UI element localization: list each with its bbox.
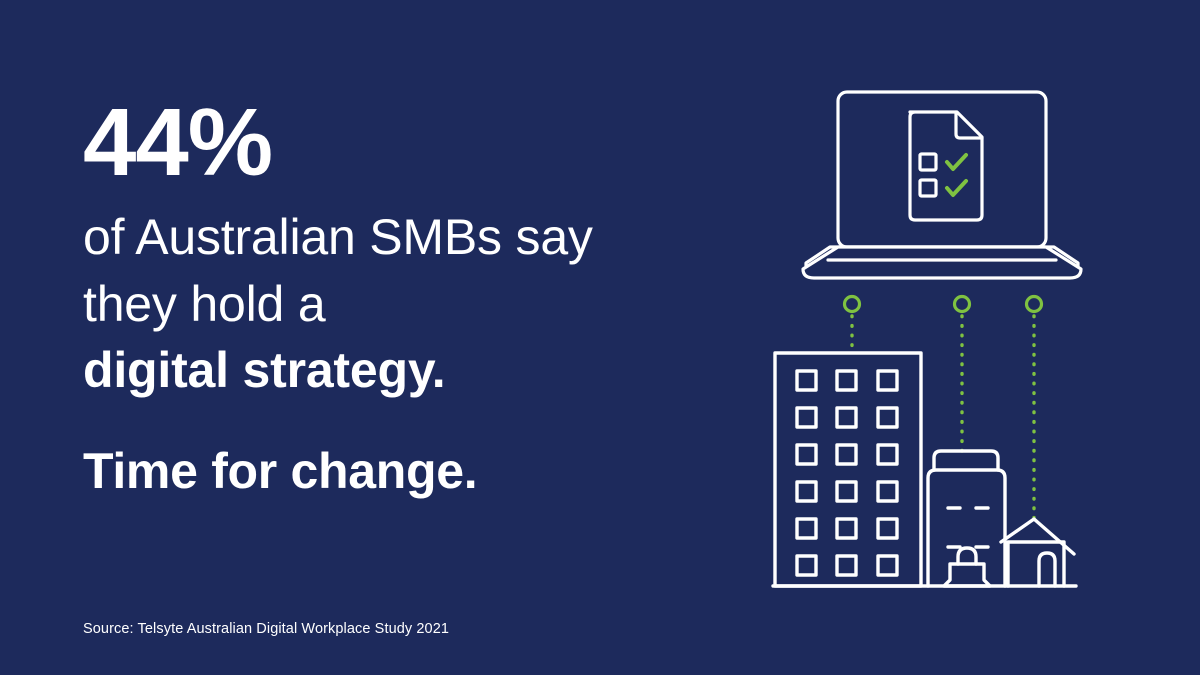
tower-window <box>878 445 897 464</box>
infographic-canvas: 44% of Australian SMBs say they hold a d… <box>0 0 1200 675</box>
copy-block: 44% of Australian SMBs say they hold a d… <box>83 96 683 499</box>
headline: of Australian SMBs say they hold a digit… <box>83 204 683 404</box>
tower-window <box>878 408 897 427</box>
headline-line-3: digital strategy. <box>83 337 683 404</box>
tower-window <box>878 519 897 538</box>
tower-window <box>797 482 816 501</box>
checkbox-2 <box>920 180 936 196</box>
mid-rise-roof-cap <box>934 451 998 470</box>
checkmark-icon-1 <box>947 155 966 169</box>
office-tower-icon <box>775 353 921 586</box>
tower-window <box>797 519 816 538</box>
connector-node-3 <box>1027 297 1042 312</box>
tower-window <box>837 408 856 427</box>
padlock-shackle-icon <box>958 548 976 564</box>
tower-window <box>797 408 816 427</box>
tower-window <box>878 482 897 501</box>
checkbox-1 <box>920 154 936 170</box>
document-checkmarks <box>947 155 966 195</box>
padlock-body-icon <box>944 564 990 586</box>
headline-line-1: of Australian SMBs <box>83 209 502 265</box>
tower-window <box>837 482 856 501</box>
tower-window <box>878 371 897 390</box>
illustration <box>752 70 1112 600</box>
connector-node-2 <box>955 297 970 312</box>
tower-window <box>797 445 816 464</box>
laptop-icon <box>803 92 1081 278</box>
tower-window <box>797 556 816 575</box>
tower-window <box>797 371 816 390</box>
tower-window <box>837 519 856 538</box>
checkmark-icon-2 <box>947 181 966 195</box>
call-to-action-text: Time for change. <box>83 444 683 499</box>
stat-value: 44% <box>83 96 683 190</box>
tower-window <box>837 445 856 464</box>
dotted-connector-lines <box>845 297 1042 519</box>
source-citation: Source: Telsyte Australian Digital Workp… <box>83 621 449 637</box>
mid-rise-body <box>928 470 1005 586</box>
tower-window <box>837 556 856 575</box>
tower-window <box>837 371 856 390</box>
house-icon <box>1001 519 1074 586</box>
laptop-base-outline <box>803 247 1081 278</box>
document-icon <box>910 112 982 220</box>
house-door <box>1039 553 1055 586</box>
mid-rise-building-icon <box>928 451 1005 586</box>
laptop-screen <box>838 92 1046 247</box>
connector-node-1 <box>845 297 860 312</box>
tower-window <box>878 556 897 575</box>
